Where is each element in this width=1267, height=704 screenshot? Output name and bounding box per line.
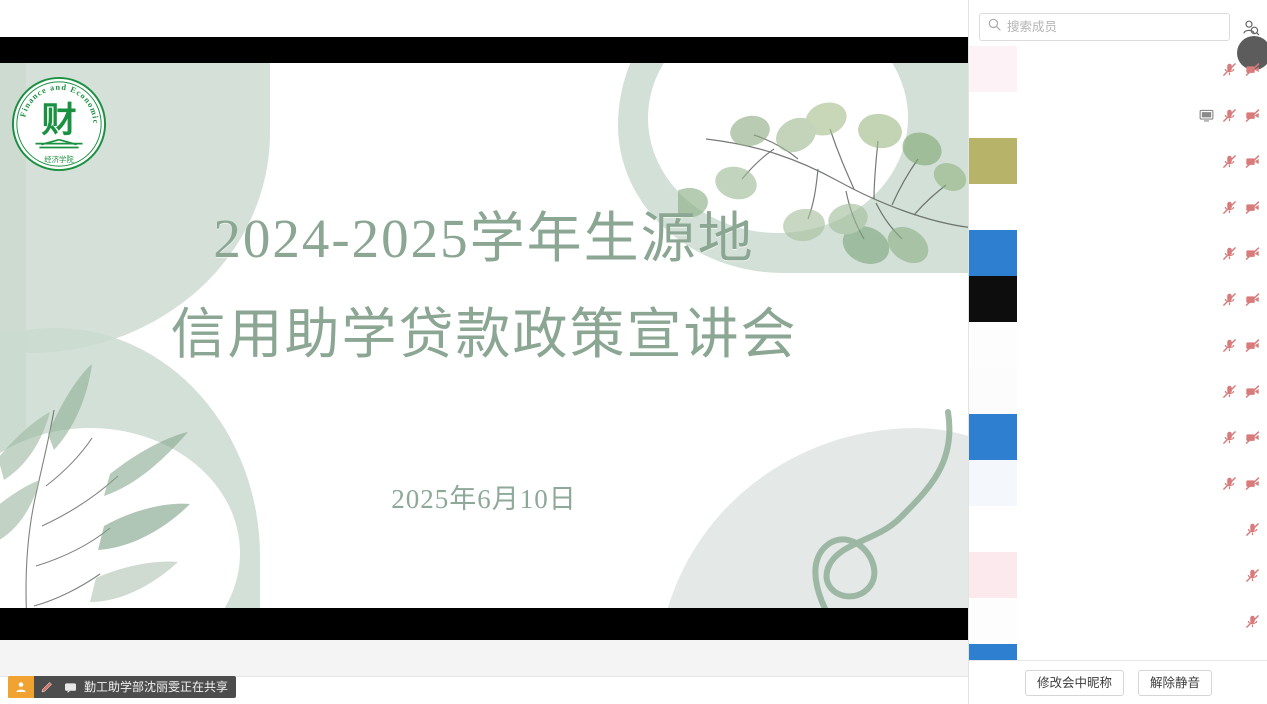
sharing-status-bar[interactable]: 勤工助学部沈丽雯正在共享	[8, 676, 236, 698]
participant-row[interactable]	[969, 644, 1267, 660]
camera-muted-icon[interactable]	[1245, 384, 1260, 399]
camera-muted-icon[interactable]	[1245, 246, 1260, 261]
search-input[interactable]	[1007, 20, 1221, 34]
mic-muted-icon[interactable]	[1222, 154, 1237, 169]
mic-muted-icon[interactable]	[1222, 384, 1237, 399]
participant-status-icons	[1222, 46, 1260, 92]
search-icon	[988, 18, 1001, 36]
camera-muted-icon[interactable]	[1245, 108, 1260, 123]
participant-status-icons	[1222, 460, 1260, 506]
participant-status-icons	[1245, 598, 1260, 644]
slide-title: 2024-2025学年生源地 信用助学贷款政策宣讲会	[0, 191, 968, 383]
participant-row[interactable]	[969, 552, 1267, 598]
participant-panel-footer: 修改会中昵称 解除静音	[969, 660, 1267, 704]
letterbox-bottom-bar	[0, 608, 968, 640]
participant-row[interactable]	[969, 598, 1267, 644]
mic-muted-icon[interactable]	[1222, 246, 1237, 261]
svg-text:经济学院: 经济学院	[44, 155, 74, 164]
university-seal-logo: Finance and Economics Institute 财 经济学院	[10, 75, 108, 173]
participant-status-icons	[1222, 414, 1260, 460]
mic-muted-icon[interactable]	[1245, 568, 1260, 583]
camera-muted-icon[interactable]	[1245, 338, 1260, 353]
mic-muted-icon[interactable]	[1245, 614, 1260, 629]
participant-video-thumbnail	[969, 506, 1017, 552]
participant-video-thumbnail	[969, 138, 1017, 184]
participant-row[interactable]	[969, 460, 1267, 506]
participant-row[interactable]	[969, 138, 1267, 184]
pen-icon[interactable]	[34, 676, 58, 698]
stage-top-margin	[0, 0, 968, 37]
participant-row[interactable]	[969, 184, 1267, 230]
mic-muted-icon[interactable]	[1222, 200, 1237, 215]
participant-status-icons	[1199, 92, 1260, 138]
participant-row[interactable]	[969, 92, 1267, 138]
mic-muted-icon[interactable]	[1222, 430, 1237, 445]
participant-row[interactable]	[969, 368, 1267, 414]
unmute-button[interactable]: 解除静音	[1138, 670, 1212, 696]
letterbox-top-bar	[0, 37, 968, 63]
participant-video-thumbnail	[969, 644, 1017, 660]
participant-status-icons	[1245, 506, 1260, 552]
participant-row[interactable]	[969, 414, 1267, 460]
participant-video-thumbnail	[969, 184, 1017, 230]
participant-row[interactable]	[969, 46, 1267, 92]
participant-video-thumbnail	[969, 92, 1017, 138]
person-icon	[8, 676, 34, 698]
participant-status-icons	[1245, 644, 1260, 660]
participant-status-icons	[1222, 230, 1260, 276]
meeting-window: Finance and Economics Institute 财 经济学院 2…	[0, 0, 1267, 704]
participant-video-thumbnail	[969, 230, 1017, 276]
participant-video-thumbnail	[969, 368, 1017, 414]
participant-video-thumbnail	[969, 322, 1017, 368]
camera-muted-icon[interactable]	[1245, 154, 1260, 169]
presentation-slide: Finance and Economics Institute 财 经济学院 2…	[0, 63, 968, 608]
participants-panel: 修改会中昵称 解除静音	[968, 0, 1267, 704]
mic-muted-icon[interactable]	[1222, 62, 1237, 77]
chat-icon[interactable]	[58, 676, 82, 698]
search-box[interactable]	[979, 13, 1230, 41]
participant-video-thumbnail	[969, 598, 1017, 644]
participant-video-thumbnail	[969, 460, 1017, 506]
participant-status-icons	[1222, 276, 1260, 322]
mic-muted-icon[interactable]	[1222, 476, 1237, 491]
participant-status-icons	[1222, 368, 1260, 414]
stage-bottom-margin	[0, 640, 968, 676]
participant-status-icons	[1222, 184, 1260, 230]
camera-muted-icon[interactable]	[1245, 200, 1260, 215]
mic-muted-icon[interactable]	[1222, 292, 1237, 307]
participant-search-row	[969, 8, 1267, 46]
rename-in-meeting-button[interactable]: 修改会中昵称	[1025, 670, 1124, 696]
participant-status-icons	[1245, 552, 1260, 598]
camera-muted-icon[interactable]	[1245, 62, 1260, 77]
svg-text:财: 财	[41, 101, 76, 140]
participant-video-thumbnail	[969, 46, 1017, 92]
participant-video-thumbnail	[969, 414, 1017, 460]
participant-row[interactable]	[969, 322, 1267, 368]
sharing-status-text: 勤工助学部沈丽雯正在共享	[82, 676, 236, 698]
camera-muted-icon[interactable]	[1245, 430, 1260, 445]
camera-muted-icon[interactable]	[1245, 476, 1260, 491]
slide-date: 2025年6月10日	[0, 477, 968, 516]
shared-screen-stage[interactable]: Finance and Economics Institute 财 经济学院 2…	[0, 0, 968, 676]
participant-status-icons	[1222, 138, 1260, 184]
participant-video-thumbnail	[969, 552, 1017, 598]
screen-share-icon	[1199, 108, 1214, 123]
camera-muted-icon[interactable]	[1245, 292, 1260, 307]
mic-muted-icon[interactable]	[1222, 338, 1237, 353]
participant-video-thumbnail	[969, 276, 1017, 322]
participant-status-icons	[1222, 322, 1260, 368]
participant-list[interactable]	[969, 46, 1267, 660]
participant-row[interactable]	[969, 230, 1267, 276]
participant-row[interactable]	[969, 506, 1267, 552]
participant-row[interactable]	[969, 276, 1267, 322]
mic-muted-icon[interactable]	[1245, 522, 1260, 537]
mic-muted-icon[interactable]	[1222, 108, 1237, 123]
